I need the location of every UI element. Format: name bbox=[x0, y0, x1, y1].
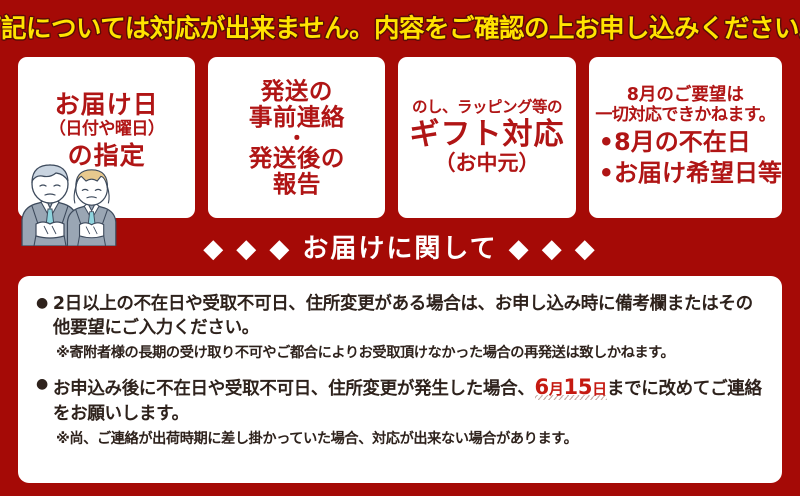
deadline-day: 15 bbox=[564, 375, 593, 399]
card-august-requests: 8月のご要望は 一切対応できかねます。 •8月の不在日 •お届け希望日等 bbox=[589, 57, 782, 218]
note-1-main-text: 2日以上の不在日や受取不可日、住所変更がある場合は、お申し込み時に備考欄またはそ… bbox=[53, 292, 766, 340]
deadline-month: 6 bbox=[535, 375, 549, 399]
notice-poster: 下記については対応が出来ません。内容をご確認の上お申し込みください。 お届け日 … bbox=[0, 0, 800, 496]
note-1-main-row: ● 2日以上の不在日や受取不可日、住所変更がある場合は、お申し込み時に備考欄また… bbox=[36, 292, 766, 340]
card-shipping-contact: 発送の 事前連絡 ・ 発送後の 報告 bbox=[208, 57, 385, 218]
card-shipping-contact-content: 発送の 事前連絡 ・ 発送後の 報告 bbox=[208, 78, 385, 197]
card-delivery-date: お届け日 （日付や曜日） の指定 bbox=[18, 57, 195, 218]
card-shipping-contact-line1: 発送の bbox=[208, 78, 385, 104]
header-title: 下記については対応が出来ません。内容をご確認の上お申し込みください。 bbox=[0, 8, 800, 45]
header-banner: 下記については対応が出来ません。内容をご確認の上お申し込みください。 bbox=[0, 0, 800, 52]
card-shipping-contact-line3: 発送後の bbox=[208, 145, 385, 171]
card-august-line2: 一切対応できかねます。 bbox=[589, 106, 782, 125]
card-gift-wrapping: のし、ラッピング等の ギフト対応 （お中元） bbox=[398, 57, 575, 218]
note-item-1: ● 2日以上の不在日や受取不可日、住所変更がある場合は、お申し込み時に備考欄また… bbox=[36, 292, 766, 363]
note-2-text-before: お申込み後に不在日や受取不可日、住所変更が発生した場合、 bbox=[53, 379, 535, 399]
card-gift-wrapping-line2: ギフト対応 bbox=[398, 118, 575, 152]
card-gift-wrapping-content: のし、ラッピング等の ギフト対応 （お中元） bbox=[398, 99, 575, 175]
note-item-2: ● お申込み後に不在日や受取不可日、住所変更が発生した場合、6月15日までに改め… bbox=[36, 373, 766, 449]
card-august-line1: 8月のご要望は bbox=[589, 86, 782, 106]
note-1-bullet-icon: ● bbox=[36, 292, 48, 315]
note-1-sub-text: ※寄附者様の長期の受け取り不可やご都合によりお受取頂けなかった場合の再発送は致し… bbox=[36, 344, 766, 362]
card-august-bullet1: •8月の不在日 bbox=[589, 129, 782, 156]
card-shipping-contact-line4: 報告 bbox=[208, 171, 385, 197]
delivery-notes-panel: ● 2日以上の不在日や受取不可日、住所変更がある場合は、お申し込み時に備考欄また… bbox=[18, 276, 782, 483]
section-title: ◆ ◆ ◆ お届けに関して ◆ ◆ ◆ bbox=[203, 228, 597, 265]
card-delivery-date-content: お届け日 （日付や曜日） の指定 bbox=[18, 91, 195, 169]
card-gift-wrapping-line1: のし、ラッピング等の bbox=[398, 99, 575, 116]
note-2-main-text: お申込み後に不在日や受取不可日、住所変更が発生した場合、6月15日までに改めてご… bbox=[53, 373, 766, 426]
note-2-bullet-icon: ● bbox=[36, 373, 48, 396]
deadline-day-unit: 日 bbox=[592, 380, 607, 398]
deadline-month-unit: 月 bbox=[549, 380, 564, 398]
deadline-date-highlight: 6月15日 bbox=[535, 375, 607, 400]
card-shipping-contact-separator: ・ bbox=[208, 131, 385, 145]
note-2-sub-text: ※尚、ご連絡が出荷時期に差し掛かっていた場合、対応が出来ない場合があります。 bbox=[36, 430, 766, 448]
card-delivery-date-line2: （日付や曜日） bbox=[18, 120, 195, 139]
card-august-bullet2: •お届け希望日等 bbox=[589, 160, 782, 187]
card-delivery-date-line1: お届け日 bbox=[18, 91, 195, 119]
unsupported-items-card-row: お届け日 （日付や曜日） の指定 発送の 事前連絡 ・ 発送後の 報告 のし、ラ… bbox=[18, 57, 782, 218]
note-2-main-row: ● お申込み後に不在日や受取不可日、住所変更が発生した場合、6月15日までに改め… bbox=[36, 373, 766, 426]
section-title-band: ◆ ◆ ◆ お届けに関して ◆ ◆ ◆ bbox=[0, 222, 800, 270]
card-gift-wrapping-line3: （お中元） bbox=[398, 152, 575, 176]
card-august-requests-content: 8月のご要望は 一切対応できかねます。 •8月の不在日 •お届け希望日等 bbox=[589, 86, 782, 187]
card-delivery-date-line3: の指定 bbox=[18, 142, 195, 170]
